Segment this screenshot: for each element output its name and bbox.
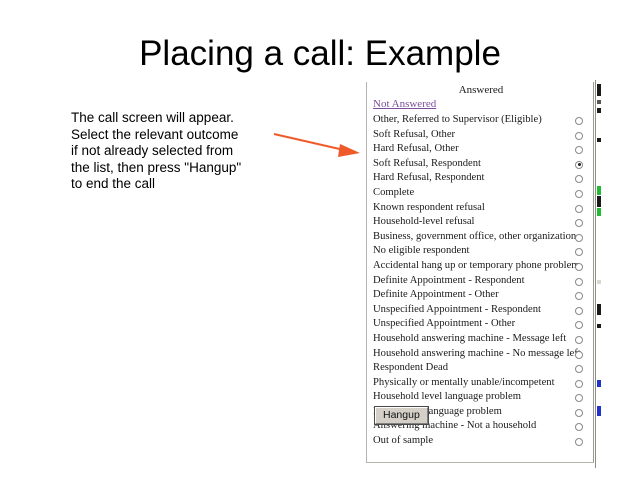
outcome-label: Household answering machine - No message… bbox=[373, 347, 581, 362]
outcome-label: Definite Appointment - Other bbox=[373, 288, 499, 303]
sliver-text-fragment bbox=[597, 208, 601, 216]
outcome-radio-button[interactable] bbox=[575, 219, 583, 227]
outcome-row[interactable]: Hard Refusal, Respondent bbox=[367, 171, 594, 186]
outcome-row[interactable]: Respondent Dead bbox=[367, 361, 594, 376]
answered-section-header: Answered bbox=[367, 84, 594, 96]
outcome-label: Accidental hang up or temporary phone pr… bbox=[373, 259, 580, 274]
outcome-label: Household level language problem bbox=[373, 390, 521, 405]
outcome-radio-button[interactable] bbox=[575, 132, 583, 140]
outcome-label: Out of sample bbox=[373, 434, 433, 449]
sliver-text-fragment bbox=[597, 304, 601, 315]
annotation-arrow bbox=[270, 122, 365, 164]
outcome-label: Respondent Dead bbox=[373, 361, 448, 376]
outcome-radio-button[interactable] bbox=[575, 190, 583, 198]
outcome-label: Hard Refusal, Other bbox=[373, 142, 459, 157]
sliver-text-fragment bbox=[597, 84, 601, 96]
outcome-radio-button[interactable] bbox=[575, 394, 583, 402]
sliver-text-fragment bbox=[597, 406, 601, 416]
outcome-row[interactable]: Household-level refusal bbox=[367, 215, 594, 230]
outcome-radio-button[interactable] bbox=[575, 175, 583, 183]
sliver-text-fragment bbox=[597, 380, 601, 387]
sliver-text-fragment bbox=[597, 324, 601, 328]
outcome-label: Physically or mentally unable/incompeten… bbox=[373, 376, 555, 391]
outcome-radio-button[interactable] bbox=[575, 234, 583, 242]
outcome-label: Complete bbox=[373, 186, 414, 201]
sliver-text-fragment bbox=[597, 100, 601, 104]
outcome-radio-button[interactable] bbox=[575, 423, 583, 431]
outcome-row[interactable]: Business, government office, other organ… bbox=[367, 230, 594, 245]
outcome-radio-button[interactable] bbox=[575, 263, 583, 271]
outcome-row[interactable]: Unspecified Appointment - Other bbox=[367, 317, 594, 332]
outcome-row[interactable]: Other, Referred to Supervisor (Eligible) bbox=[367, 113, 594, 128]
outcome-row[interactable]: Soft Refusal, Respondent bbox=[367, 157, 594, 172]
outcome-row[interactable]: No eligible respondent bbox=[367, 244, 594, 259]
outcome-row[interactable]: Household level language problem bbox=[367, 390, 594, 405]
outcome-radio-button[interactable] bbox=[575, 409, 583, 417]
outcome-radio-button[interactable] bbox=[575, 336, 583, 344]
page-title: Placing a call: Example bbox=[0, 34, 640, 74]
caption-line: to end the call bbox=[71, 176, 281, 193]
sliver-text-fragment bbox=[597, 138, 601, 142]
outcome-radio-list: Other, Referred to Supervisor (Eligible)… bbox=[367, 113, 594, 449]
caption-line: the list, then press "Hangup" bbox=[71, 160, 281, 177]
sliver-text-fragment bbox=[597, 196, 601, 207]
outcome-radio-button[interactable] bbox=[575, 248, 583, 256]
outcome-radio-button[interactable] bbox=[575, 365, 583, 373]
outcome-radio-button[interactable] bbox=[575, 292, 583, 300]
outcome-radio-button[interactable] bbox=[575, 161, 583, 169]
outcome-row[interactable]: Physically or mentally unable/incompeten… bbox=[367, 376, 594, 391]
caption-line: if not already selected from bbox=[71, 143, 281, 160]
sliver-text-fragment bbox=[597, 280, 601, 284]
outcome-label: Household answering machine - Message le… bbox=[373, 332, 566, 347]
outcome-row[interactable]: Household answering machine - No message… bbox=[367, 347, 594, 362]
outcome-radio-button[interactable] bbox=[575, 380, 583, 388]
outcome-row[interactable]: Out of sample bbox=[367, 434, 594, 449]
outcome-label: Household-level refusal bbox=[373, 215, 475, 230]
arrow-pointer-icon bbox=[270, 122, 365, 164]
slide-canvas: Placing a call: Example The call screen … bbox=[0, 0, 640, 480]
outcome-row[interactable]: Hard Refusal, Other bbox=[367, 142, 594, 157]
instruction-caption: The call screen will appear. Select the … bbox=[71, 110, 281, 193]
outcome-label: Known respondent refusal bbox=[373, 201, 485, 216]
outcome-label: Soft Refusal, Other bbox=[373, 128, 455, 143]
outcome-row[interactable]: Complete bbox=[367, 186, 594, 201]
outcome-radio-button[interactable] bbox=[575, 117, 583, 125]
outcome-label: Other, Referred to Supervisor (Eligible) bbox=[373, 113, 542, 128]
outcome-label: Definite Appointment - Respondent bbox=[373, 274, 525, 289]
outcome-radio-button[interactable] bbox=[575, 351, 583, 359]
outcome-radio-button[interactable] bbox=[575, 438, 583, 446]
outcome-label: Hard Refusal, Respondent bbox=[373, 171, 485, 186]
outcome-radio-button[interactable] bbox=[575, 205, 583, 213]
outcome-radio-button[interactable] bbox=[575, 146, 583, 154]
outcome-label: Unspecified Appointment - Respondent bbox=[373, 303, 541, 318]
sliver-text-fragment bbox=[597, 186, 601, 195]
not-answered-link[interactable]: Not Answered bbox=[373, 98, 436, 110]
caption-line: The call screen will appear. bbox=[71, 110, 281, 127]
outcome-row[interactable]: Household answering machine - Message le… bbox=[367, 332, 594, 347]
outcome-row[interactable]: Unspecified Appointment - Respondent bbox=[367, 303, 594, 318]
hangup-button[interactable]: Hangup bbox=[375, 407, 428, 424]
outcome-label: Soft Refusal, Respondent bbox=[373, 157, 481, 172]
outcome-row[interactable]: Soft Refusal, Other bbox=[367, 128, 594, 143]
outcome-radio-button[interactable] bbox=[575, 307, 583, 315]
outcome-label: Business, government office, other organ… bbox=[373, 230, 576, 245]
outcome-row[interactable]: Definite Appointment - Other bbox=[367, 288, 594, 303]
outcome-radio-button[interactable] bbox=[575, 321, 583, 329]
outcome-label: No eligible respondent bbox=[373, 244, 470, 259]
outcome-radio-button[interactable] bbox=[575, 278, 583, 286]
outcome-label: Unspecified Appointment - Other bbox=[373, 317, 515, 332]
caption-line: Select the relevant outcome bbox=[71, 127, 281, 144]
background-window-sliver bbox=[595, 80, 640, 468]
outcome-row[interactable]: Accidental hang up or temporary phone pr… bbox=[367, 259, 594, 274]
sliver-text-fragment bbox=[597, 108, 601, 113]
call-screen-window: Answered Not Answered Other, Referred to… bbox=[366, 82, 594, 463]
outcome-row[interactable]: Definite Appointment - Respondent bbox=[367, 274, 594, 289]
outcome-row[interactable]: Known respondent refusal bbox=[367, 201, 594, 216]
